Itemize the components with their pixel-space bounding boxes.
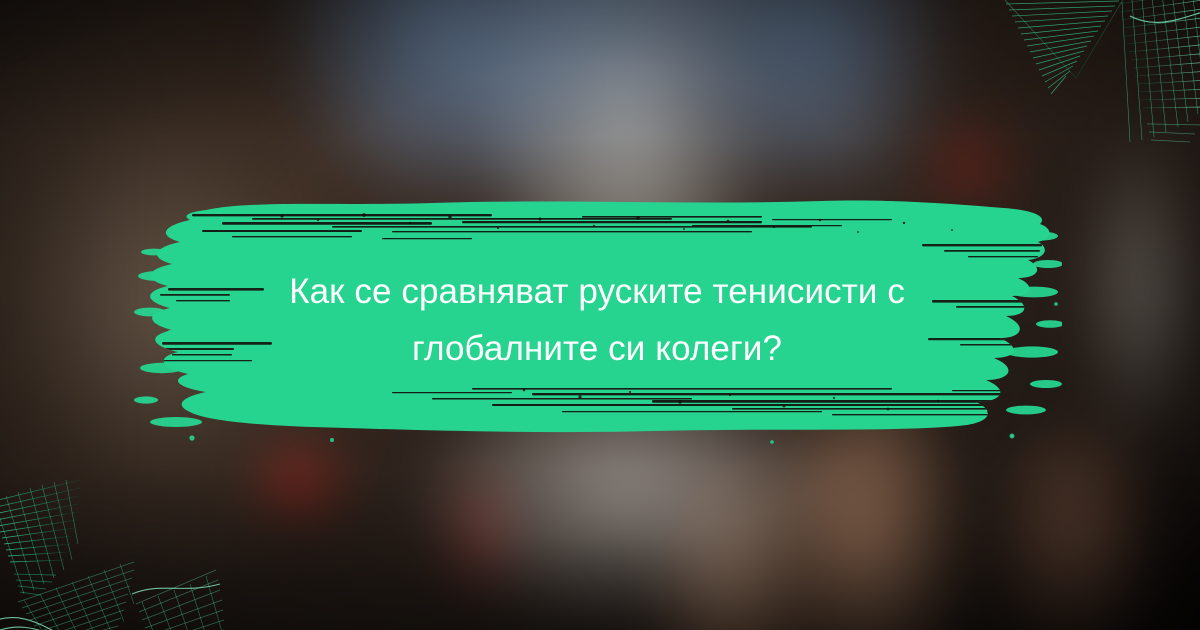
headline-banner: Как се сравняват руските тенисисти с гло…	[132, 192, 1062, 444]
headline-text: Как се сравняват руските тенисисти с гло…	[132, 264, 1062, 377]
social-card: Как се сравняват руските тенисисти с гло…	[0, 0, 1200, 630]
headline-line-1: Как се сравняват руските тенисисти с	[192, 264, 1002, 321]
headline-line-2: глобалните си колеги?	[192, 321, 1002, 378]
